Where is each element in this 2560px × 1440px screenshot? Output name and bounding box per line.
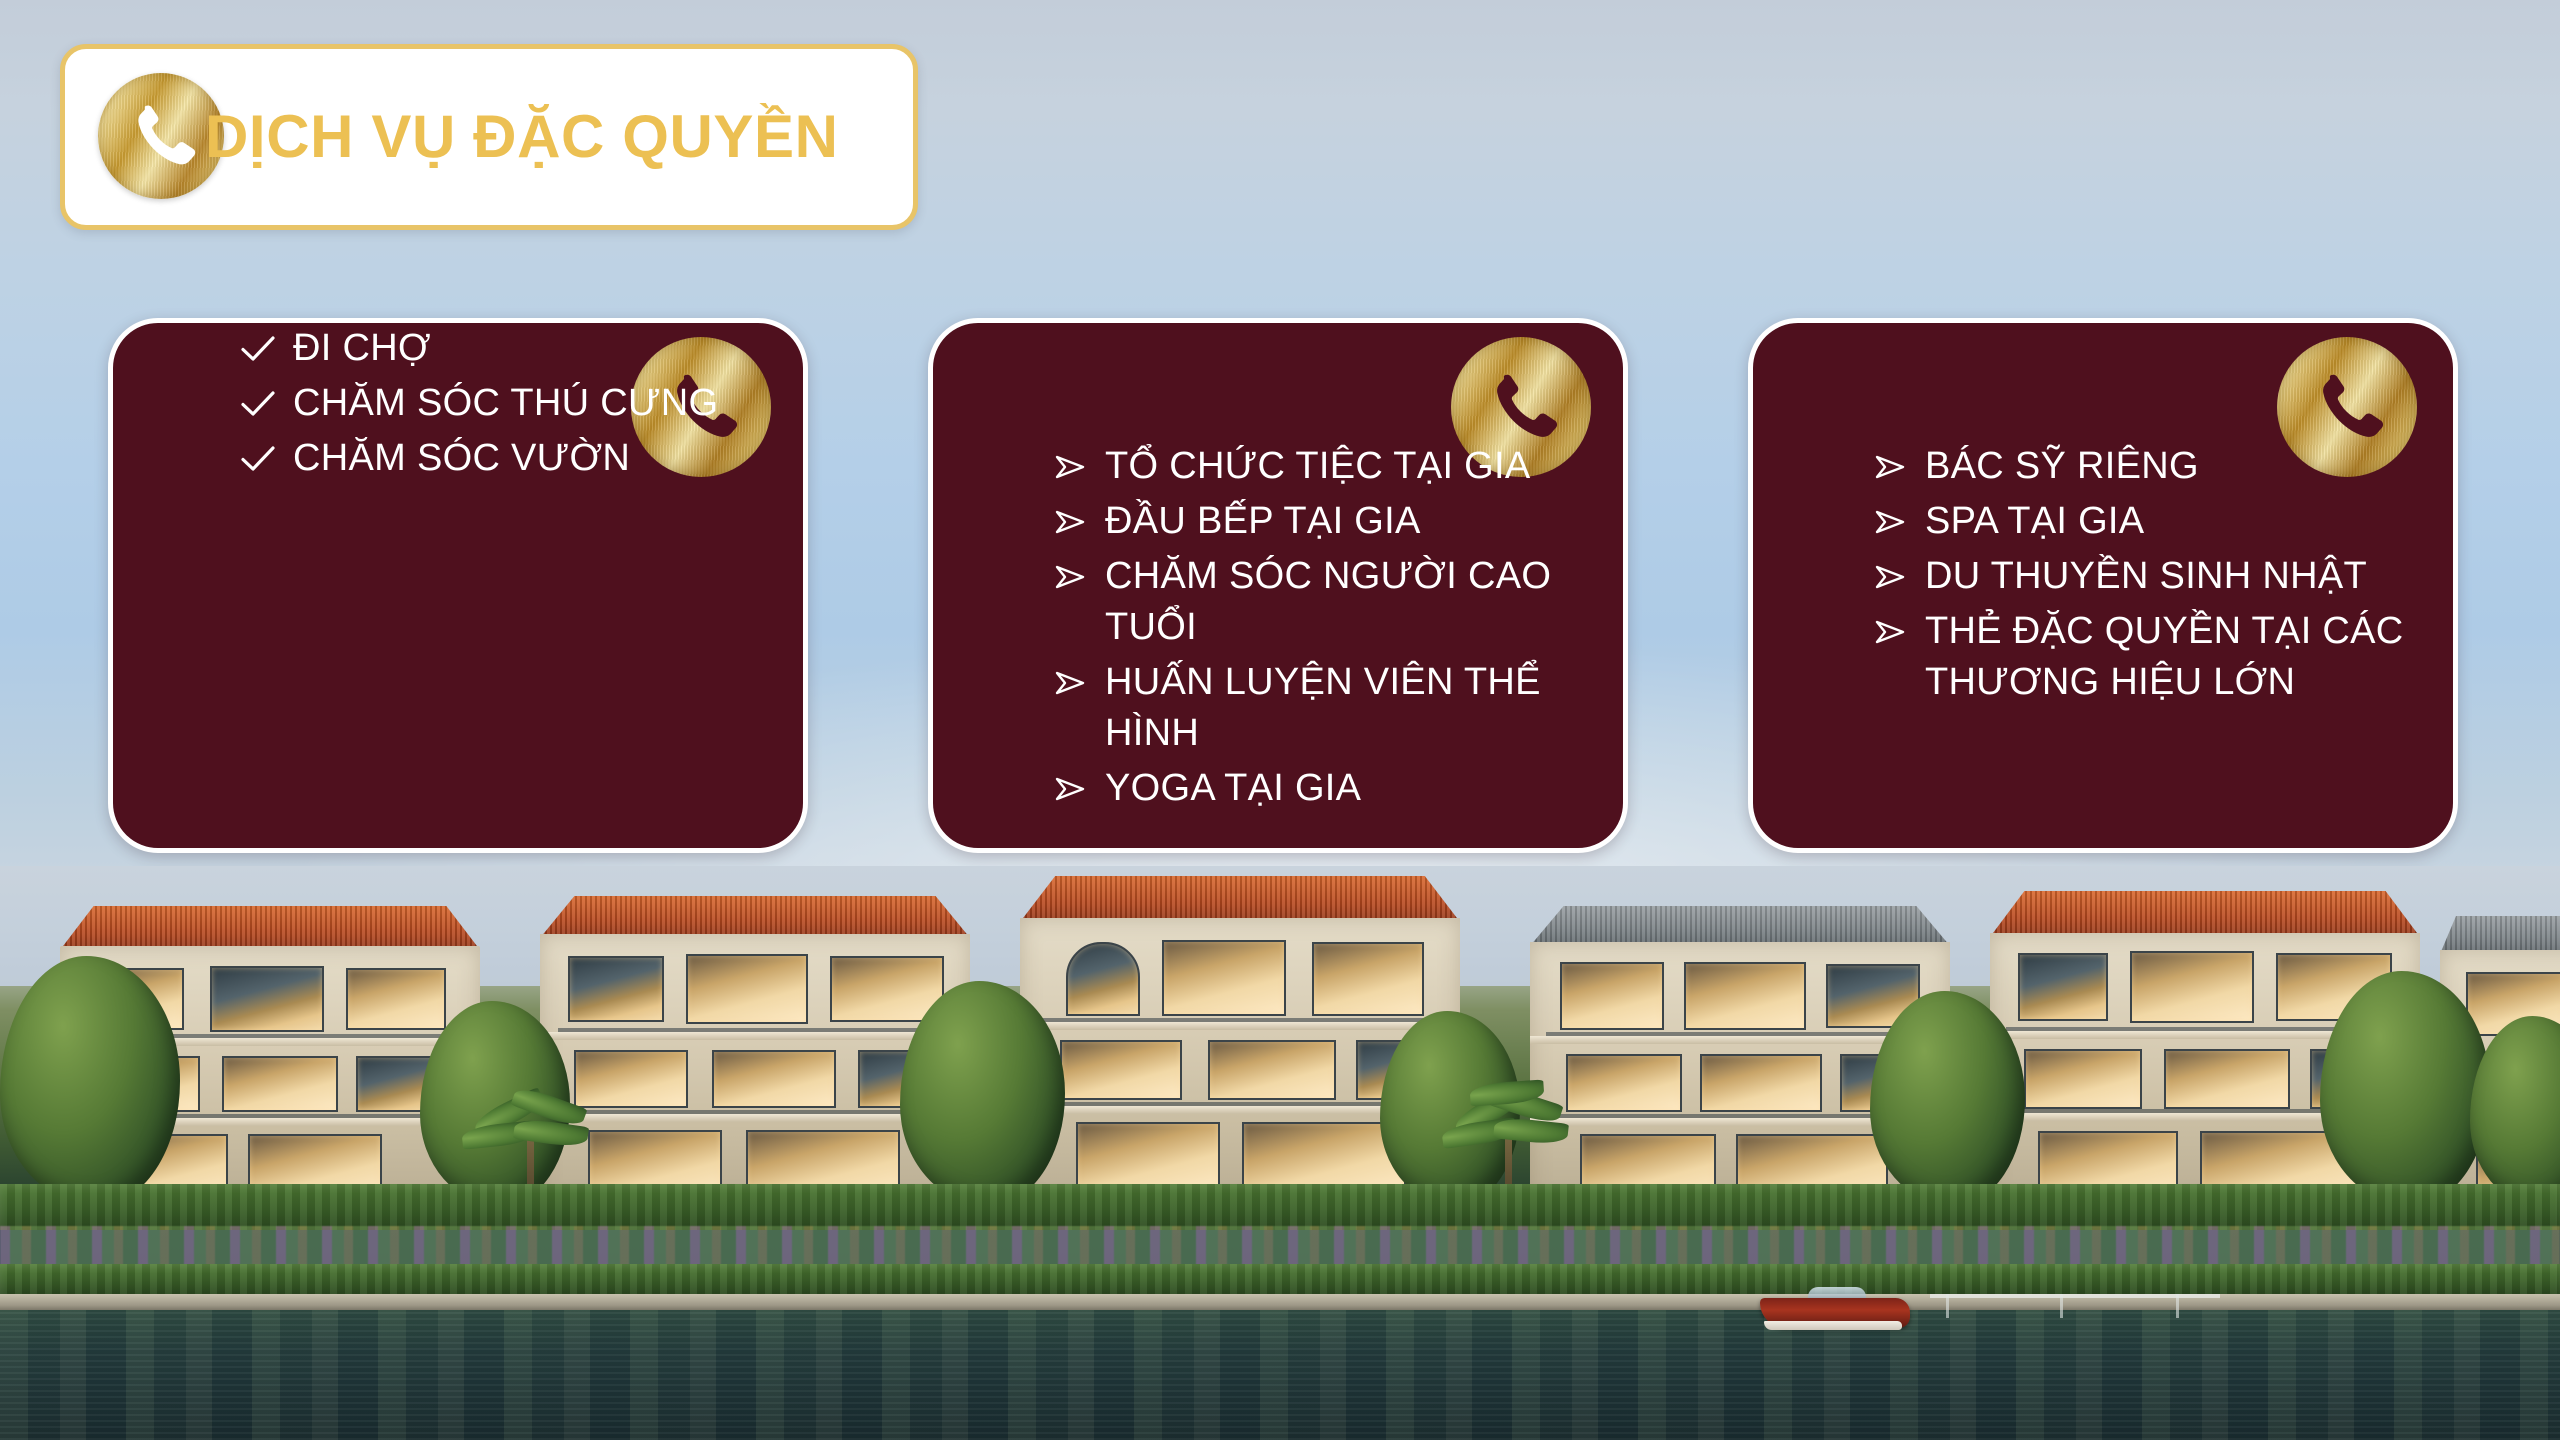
list-item: SPA TẠI GIA [1873, 496, 2453, 547]
list-item: CHĂM SÓC NGƯỜI CAO TUỔI [1053, 551, 1623, 653]
dock-leg [2176, 1294, 2179, 1318]
palm-tree [1448, 1046, 1568, 1206]
arrow-icon [1873, 496, 1925, 535]
arrow-icon [1873, 551, 1925, 590]
list-item: YOGA TẠI GIA [1053, 763, 1623, 814]
list-item-label: CHĂM SÓC VƯỜN [293, 433, 630, 484]
list-item: TỔ CHỨC TIỆC TẠI GIA [1053, 441, 1623, 492]
list-item-label: SPA TẠI GIA [1925, 496, 2144, 547]
list-item-label: ĐI CHỢ [293, 323, 431, 374]
palm-tree [470, 1046, 590, 1206]
list-item: ĐẦU BẾP TẠI GIA [1053, 496, 1623, 547]
card-services-lifestyle[interactable]: TỔ CHỨC TIỆC TẠI GIA ĐẦU BẾP TẠI GIA CHĂ… [928, 318, 1628, 853]
list-item-label: HUẤN LUYỆN VIÊN THỂ HÌNH [1105, 657, 1623, 759]
service-list: BÁC SỸ RIÊNG SPA TẠI GIA DU THUYỀN SINH … [1873, 323, 2453, 712]
service-list: TỔ CHỨC TIỆC TẠI GIA ĐẦU BẾP TẠI GIA CHĂ… [1053, 323, 1623, 818]
list-item: BÁC SỸ RIÊNG [1873, 441, 2453, 492]
list-item: THẺ ĐẶC QUYỀN TẠI CÁC THƯƠNG HIỆU LỚN [1873, 606, 2453, 708]
list-item-label: BÁC SỸ RIÊNG [1925, 441, 2199, 492]
arrow-icon [1053, 441, 1105, 480]
flower-bed [0, 1226, 2560, 1268]
slide-root: DỊCH VỤ ĐẶC QUYỀN ĐI CHỢ [0, 0, 2560, 1440]
list-item: CHĂM SÓC THÚ CƯNG [241, 378, 803, 429]
card-services-premium[interactable]: BÁC SỸ RIÊNG SPA TẠI GIA DU THUYỀN SINH … [1748, 318, 2458, 853]
dock-leg [1946, 1294, 1949, 1318]
villa-photo [0, 866, 2560, 1440]
speedboat [1760, 1284, 1910, 1336]
list-item-label: CHĂM SÓC THÚ CƯNG [293, 378, 718, 429]
arrow-icon [1053, 763, 1105, 802]
list-item: HUẤN LUYỆN VIÊN THỂ HÌNH [1053, 657, 1623, 759]
arrow-icon [1053, 496, 1105, 535]
list-item: CHĂM SÓC VƯỜN [241, 433, 803, 484]
list-item-label: YOGA TẠI GIA [1105, 763, 1361, 814]
header-badge: DỊCH VỤ ĐẶC QUYỀN [60, 44, 918, 230]
tree [2320, 971, 2490, 1206]
list-item-label: DU THUYỀN SINH NHẬT [1925, 551, 2367, 602]
arrow-icon [1873, 606, 1925, 645]
lake [0, 1310, 2560, 1440]
list-item: DU THUYỀN SINH NHẬT [1873, 551, 2453, 602]
tree [1870, 991, 2025, 1206]
hedge [0, 1264, 2560, 1294]
arrow-icon [1053, 551, 1105, 590]
card-services-home[interactable]: ĐI CHỢ CHĂM SÓC THÚ CƯNG CHĂM SÓC VƯỜN [108, 318, 808, 853]
list-item-label: THẺ ĐẶC QUYỀN TẠI CÁC THƯƠNG HIỆU LỚN [1925, 606, 2453, 708]
villa [540, 896, 970, 1206]
boat-stripe [1764, 1321, 1902, 1330]
service-list: ĐI CHỢ CHĂM SÓC THÚ CƯNG CHĂM SÓC VƯỜN [241, 323, 803, 488]
hedge [0, 1184, 2560, 1230]
villa-row [0, 876, 2560, 1206]
dock-leg [2060, 1294, 2063, 1318]
tree [0, 956, 180, 1206]
service-cards-row: ĐI CHỢ CHĂM SÓC THÚ CƯNG CHĂM SÓC VƯỜN [0, 318, 2560, 858]
list-item-label: ĐẦU BẾP TẠI GIA [1105, 496, 1421, 547]
check-icon [241, 433, 293, 472]
list-item-label: TỔ CHỨC TIỆC TẠI GIA [1105, 441, 1531, 492]
arrow-icon [1873, 441, 1925, 480]
list-item-label: CHĂM SÓC NGƯỜI CAO TUỔI [1105, 551, 1623, 653]
list-item: ĐI CHỢ [241, 323, 803, 374]
page-title: DỊCH VỤ ĐẶC QUYỀN [205, 99, 905, 175]
check-icon [241, 378, 293, 417]
arrow-icon [1053, 657, 1105, 696]
check-icon [241, 323, 293, 362]
water-reflection [0, 1310, 2560, 1440]
tree [900, 981, 1065, 1206]
